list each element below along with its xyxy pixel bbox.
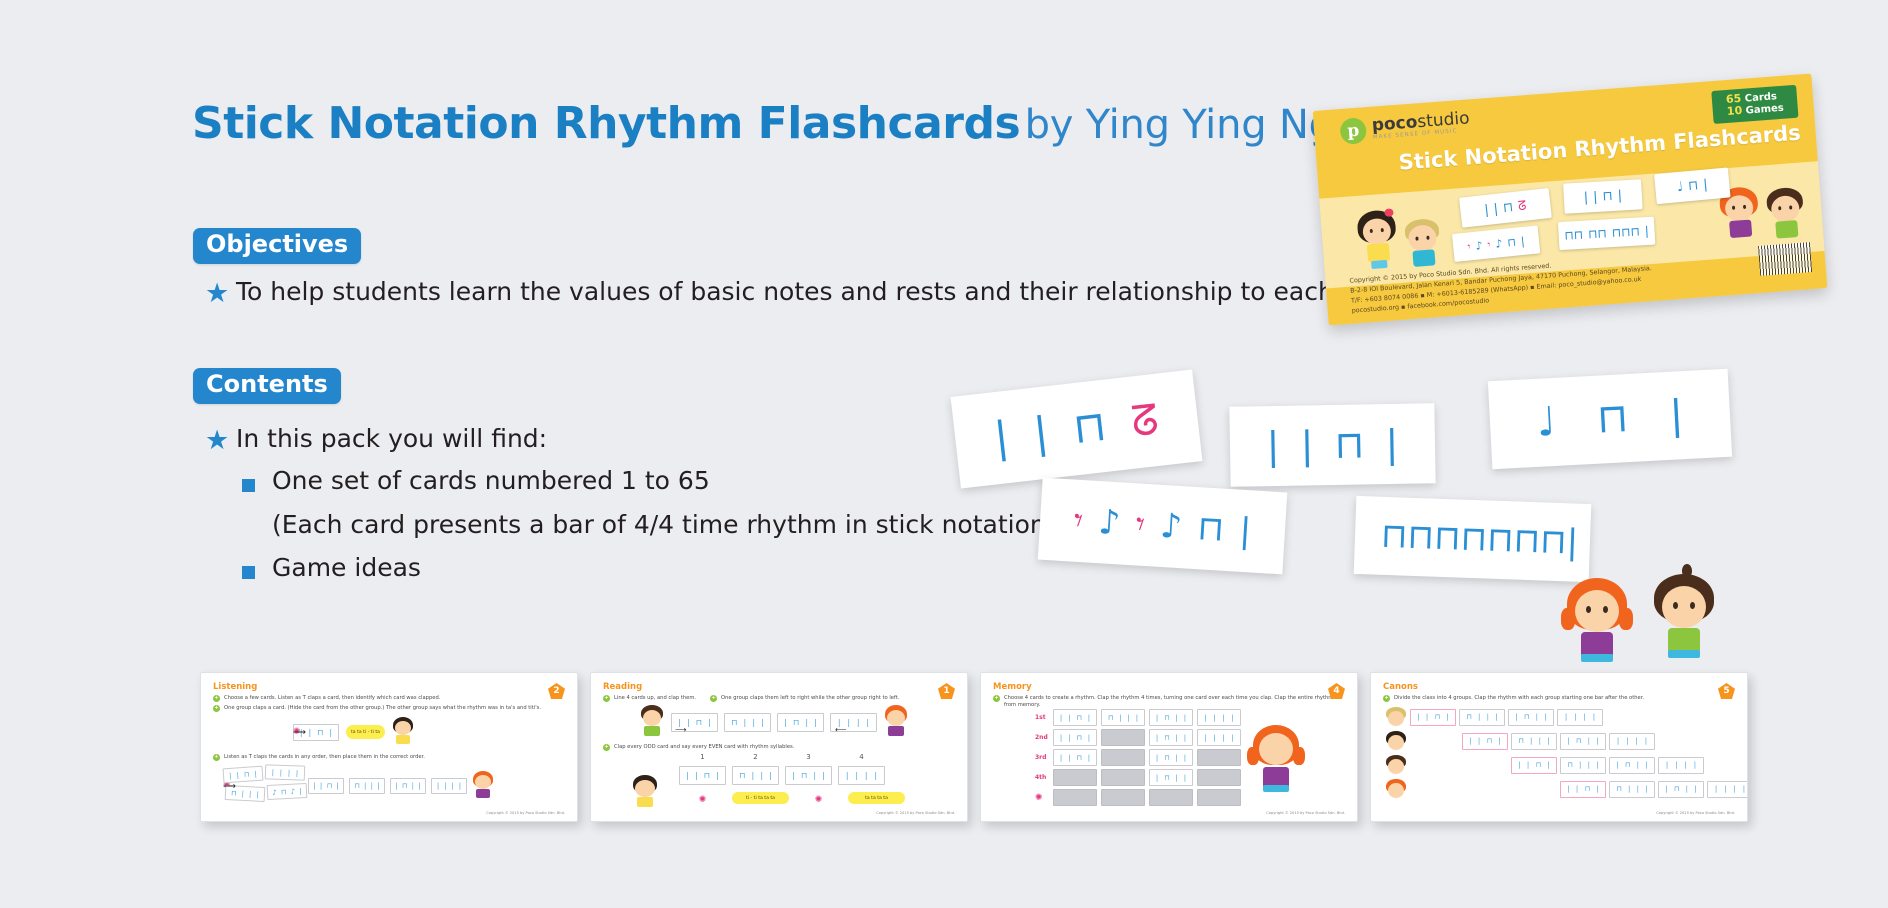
note-glyph: ⊓⊓⊓ xyxy=(1487,523,1568,560)
note-glyph: ⊓ xyxy=(1071,405,1108,450)
rhythm-card: |⊓|| xyxy=(1149,709,1193,726)
product-box-image: p pocostudio MAKE SENSE OF MUSIC Stick N… xyxy=(1313,74,1828,326)
note-glyph: ♪ xyxy=(1097,505,1121,540)
sheet-step: + Listen as T claps the cards in any ord… xyxy=(213,754,553,761)
step-bullet-icon: + xyxy=(213,695,220,702)
canon-grid: ||⊓| ⊓||| |⊓|| |||| ||⊓| ⊓||| |⊓|| |||| xyxy=(1385,707,1748,799)
card-number: 1 xyxy=(679,753,726,761)
rhythm-card: ⊓||| xyxy=(1560,757,1606,774)
step-text: One group claps them left to right while… xyxy=(721,695,899,702)
objectives-item-0: To help students learn the values of bas… xyxy=(236,277,1414,306)
sheet-title: Canons xyxy=(1383,682,1735,692)
rhythm-card: ♪⊓♪| xyxy=(267,783,308,800)
rest-glyph: ᘔ xyxy=(1129,399,1161,444)
boy-character-illustration xyxy=(1650,570,1720,670)
poco-logo-mark-icon: p xyxy=(1339,117,1367,145)
arrow-right-icon: ⟶ xyxy=(223,781,236,792)
note-glyph: | xyxy=(1266,427,1279,465)
rhythm-card: |||| xyxy=(1707,781,1748,798)
row-label: 2nd xyxy=(1035,734,1049,741)
memory-grid: 1st ||⊓| ⊓||| |⊓|| |||| 2nd ||⊓| |⊓|| ||… xyxy=(1035,709,1241,806)
barcode-image xyxy=(1758,242,1812,276)
step-text: One group claps a card. (Hide the card f… xyxy=(224,705,541,712)
rhythm-card: |⊓|| xyxy=(390,778,426,794)
rhythm-card: |⊓|| xyxy=(1149,769,1193,786)
step-bullet-icon: + xyxy=(710,695,717,702)
game-sheet-reading[interactable]: Reading 1 + Line 4 cards up, and clap th… xyxy=(590,672,968,822)
rhythm-card: ||⊓| xyxy=(1410,709,1456,726)
rhythm-card: |⊓|| xyxy=(1609,757,1655,774)
boy-character-illustration xyxy=(1385,707,1407,727)
rhythm-card-hidden xyxy=(1197,769,1241,786)
rhythm-card: ⊓||| xyxy=(724,713,771,732)
girl-character-illustration xyxy=(1385,779,1407,799)
rhythm-card: ⊓||| xyxy=(1101,709,1145,726)
girl-character-illustration xyxy=(392,717,414,747)
page-title-author: by Ying Ying Ng xyxy=(1025,102,1334,148)
rhythm-card: |||| xyxy=(1658,757,1704,774)
rhythm-card: |||| xyxy=(1557,709,1603,726)
boy-character-illustration xyxy=(1385,755,1407,775)
step-text: Clap every ODD card and say every EVEN c… xyxy=(614,744,794,751)
rhythm-card: ||⊓| xyxy=(1462,733,1508,750)
page-root: Stick Notation Rhythm Flashcards by Ying… xyxy=(0,0,1888,908)
sheet-copyright: Copyright © 2015 by Poco Studio Sdn. Bhd… xyxy=(876,811,955,815)
row-label: 3rd xyxy=(1035,754,1049,761)
sheet-copyright: Copyright © 2015 by Poco Studio Sdn. Bhd… xyxy=(486,811,565,815)
note-glyph: ⊓ xyxy=(1196,511,1225,547)
note-glyph: ⊓⊓ xyxy=(1433,521,1487,557)
rhythm-card: |⊓|| xyxy=(1658,781,1704,798)
rhythm-card: |⊓|| xyxy=(1560,733,1606,750)
step-bullet-icon: + xyxy=(993,695,1000,702)
boy-character-illustration xyxy=(1764,186,1808,247)
page-title-main: Stick Notation Rhythm Flashcards xyxy=(192,98,1020,149)
step-bullet-icon: + xyxy=(213,705,220,712)
note-glyph: | xyxy=(992,416,1011,459)
boy-character-illustration xyxy=(1401,218,1445,273)
girl-character-illustration xyxy=(1354,209,1401,274)
clap-hands-icon: ✺ xyxy=(699,795,707,805)
note-glyph: ♩ xyxy=(1536,402,1557,443)
rhythm-card: |⊓|| xyxy=(1508,709,1554,726)
step-bullet-icon: + xyxy=(213,754,220,761)
rhythm-card-hidden xyxy=(1101,729,1145,746)
cards-games-badge: 65 Cards 10 Games xyxy=(1711,85,1798,124)
sheet-step: + Divide the class into 4 groups. Clap t… xyxy=(1383,695,1735,702)
note-glyph: | xyxy=(1032,411,1051,454)
sheet-copyright: Copyright © 2015 by Poco Studio Sdn. Bhd… xyxy=(1656,811,1735,815)
page-title: Stick Notation Rhythm Flashcards by Ying… xyxy=(192,98,1334,149)
step-text: Listen as T claps the cards in any order… xyxy=(224,754,425,761)
note-glyph: ♪ xyxy=(1159,509,1183,544)
sheet-number-labels: 1 2 3 4 xyxy=(679,753,885,761)
rhythm-card-hidden xyxy=(1149,789,1193,806)
rhythm-card: |⊓|| xyxy=(777,713,824,732)
step-bullet-icon: + xyxy=(603,695,610,702)
rhythm-card: |⊓|| xyxy=(1149,749,1193,766)
note-glyph: | xyxy=(1669,395,1685,436)
rhythm-card: |⊓|| xyxy=(785,766,832,785)
rhythm-card: |||| xyxy=(265,764,305,780)
sheet-step: + Clap every ODD card and say every EVEN… xyxy=(603,744,933,751)
note-glyph: | xyxy=(1566,525,1579,559)
clap-hands-icon: ✺ xyxy=(1035,793,1049,803)
syllable-bubble: ti - ti ta ta ta xyxy=(732,792,789,804)
star-icon: ★ xyxy=(205,427,229,454)
step-text: Divide the class into 4 groups. Clap the… xyxy=(1394,695,1644,702)
boy-character-illustration xyxy=(639,705,665,739)
sheet-row-demo: ✺ ||⊓| ⟶ ta ta ti - ti ta xyxy=(293,717,414,747)
bullet-square-icon xyxy=(242,566,255,579)
card-number: 3 xyxy=(785,753,832,761)
sheet-step: + Choose a few cards. Listen as T claps … xyxy=(213,695,565,702)
rhythm-card: ||⊓| xyxy=(679,766,726,785)
rhythm-card: |⊓|| xyxy=(1149,729,1193,746)
rhythm-card: |||| xyxy=(1197,709,1241,726)
game-sheet-memory[interactable]: Memory 4 + Choose 4 cards to create a rh… xyxy=(980,672,1358,822)
badge-games-word: Games xyxy=(1745,103,1784,117)
rhythm-card: ⊓||| xyxy=(1511,733,1557,750)
step-text: Line 4 cards up, and clap them. xyxy=(614,695,696,702)
flashcard-card-d: 𝄾 ♪ 𝄾 ♪ ⊓ | xyxy=(1038,478,1288,575)
contents-intro: In this pack you will find: xyxy=(236,424,547,453)
sheet-step: + One group claps a card. (Hide the card… xyxy=(213,705,565,712)
rhythm-card: ⊓||| xyxy=(1459,709,1505,726)
girl-character-illustration xyxy=(631,775,659,809)
girl-character-illustration xyxy=(1565,578,1631,674)
step-text: Choose a few cards. Listen as T claps a … xyxy=(224,695,440,702)
arrow-right-icon: ⟶ xyxy=(293,727,306,738)
sheet-step: + One group claps them left to right whi… xyxy=(710,695,899,702)
game-sheet-canons[interactable]: Canons 5 + Divide the class into 4 group… xyxy=(1370,672,1748,822)
sheet-title: Memory xyxy=(993,682,1345,692)
clap-hands-icon: ✺ xyxy=(815,795,823,805)
rhythm-card-hidden xyxy=(1053,769,1097,786)
note-glyph: | xyxy=(1385,425,1398,463)
rhythm-card: ||⊓| xyxy=(1560,781,1606,798)
step-text: Choose 4 cards to create a rhythm. Clap … xyxy=(1004,695,1345,709)
syllable-bubble: ta ta ta ta xyxy=(848,792,905,804)
contents-heading-chip: Contents xyxy=(193,368,341,404)
rhythm-card-hidden xyxy=(1101,749,1145,766)
arrow-left-icon: ⟵ xyxy=(835,725,846,734)
objectives-heading-chip: Objectives xyxy=(193,228,361,264)
star-icon: ★ xyxy=(205,280,229,307)
rhythm-card: ||⊓| xyxy=(1511,757,1557,774)
note-glyph: ⊓ xyxy=(1334,425,1364,464)
rhythm-card: |||| xyxy=(431,778,467,794)
rest-glyph: 𝄾 xyxy=(1073,504,1084,538)
sheet-row-cards-2: ||⊓| ⊓||| |⊓|| |||| xyxy=(679,766,885,785)
card-number: 4 xyxy=(838,753,885,761)
contents-item-1: Game ideas xyxy=(272,553,421,582)
arrow-right-icon: ⟶ xyxy=(675,725,686,734)
rhythm-card: ⊓||| xyxy=(349,778,385,794)
contents-item-0: One set of cards numbered 1 to 65 xyxy=(272,466,710,495)
box-mini-card: ⊓⊓⊓⊓⊓⊓⊓| xyxy=(1558,217,1655,250)
sheet-row-sequence: ✺ ||⊓| |||| ⊓||| ♪⊓♪| ⟶ ||⊓| ⊓||| |⊓|| |… xyxy=(223,767,494,805)
step-bullet-icon: + xyxy=(603,744,610,751)
rhythm-card: |||| xyxy=(1197,729,1241,746)
bullet-square-icon xyxy=(242,479,255,492)
flashcard-card-c: ♩ ⊓ | xyxy=(1488,369,1732,469)
rhythm-card-hidden xyxy=(1197,749,1241,766)
sheet-step: + Choose 4 cards to create a rhythm. Cla… xyxy=(993,695,1345,709)
rhythm-card: ||⊓| xyxy=(1053,749,1097,766)
contents-item-0-sub: (Each card presents a bar of 4/4 time rh… xyxy=(272,510,1055,539)
sheet-copyright: Copyright © 2015 by Poco Studio Sdn. Bhd… xyxy=(1266,811,1345,815)
flashcard-card-b: | | ⊓ | xyxy=(1229,403,1435,487)
rhythm-card: ||⊓| xyxy=(1053,729,1097,746)
badge-games-count: 10 xyxy=(1726,104,1742,118)
rhythm-card-hidden xyxy=(1053,789,1097,806)
rhythm-card-hidden xyxy=(1101,769,1145,786)
girl-character-illustration xyxy=(1251,725,1303,803)
note-glyph: ⊓⊓ xyxy=(1380,519,1434,555)
sheet-step: + Line 4 cards up, and clap them. xyxy=(603,695,696,702)
syllable-bubble: ta ta ti - ti ta xyxy=(346,725,385,739)
step-bullet-icon: + xyxy=(1383,695,1390,702)
sheet-row-syllables: ✺ ti - ti ta ta ta ✺ ta ta ta ta xyxy=(679,789,905,807)
rhythm-card: ||⊓| xyxy=(1053,709,1097,726)
rhythm-card: ||⊓| xyxy=(308,778,344,794)
row-label: 4th xyxy=(1035,774,1049,781)
girl-character-illustration xyxy=(883,705,909,739)
note-glyph: | xyxy=(1239,514,1253,549)
box-mini-card: ||⊓| xyxy=(1563,179,1643,213)
rest-glyph: 𝄾 xyxy=(1135,507,1146,541)
rhythm-card-hidden xyxy=(1197,789,1241,806)
row-label: 1st xyxy=(1035,714,1049,721)
note-glyph: | xyxy=(1300,426,1313,464)
rhythm-card: |||| xyxy=(838,766,885,785)
girl-character-illustration xyxy=(1385,731,1407,751)
card-number: 2 xyxy=(732,753,779,761)
sheet-title: Reading xyxy=(603,682,955,692)
game-sheet-listening[interactable]: Listening 2 + Choose a few cards. Listen… xyxy=(200,672,578,822)
flashcard-card-e: ⊓⊓ ⊓⊓ ⊓⊓⊓ | xyxy=(1354,496,1592,582)
flashcard-card-a: | | ⊓ ᘔ xyxy=(951,370,1203,489)
note-glyph: ⊓ xyxy=(1596,398,1629,440)
rhythm-card: ⊓||| xyxy=(732,766,779,785)
rhythm-card: |||| xyxy=(1609,733,1655,750)
rhythm-card: ⊓||| xyxy=(1609,781,1655,798)
rhythm-card-hidden xyxy=(1101,789,1145,806)
sheet-title: Listening xyxy=(213,682,565,692)
girl-character-illustration xyxy=(472,771,494,801)
